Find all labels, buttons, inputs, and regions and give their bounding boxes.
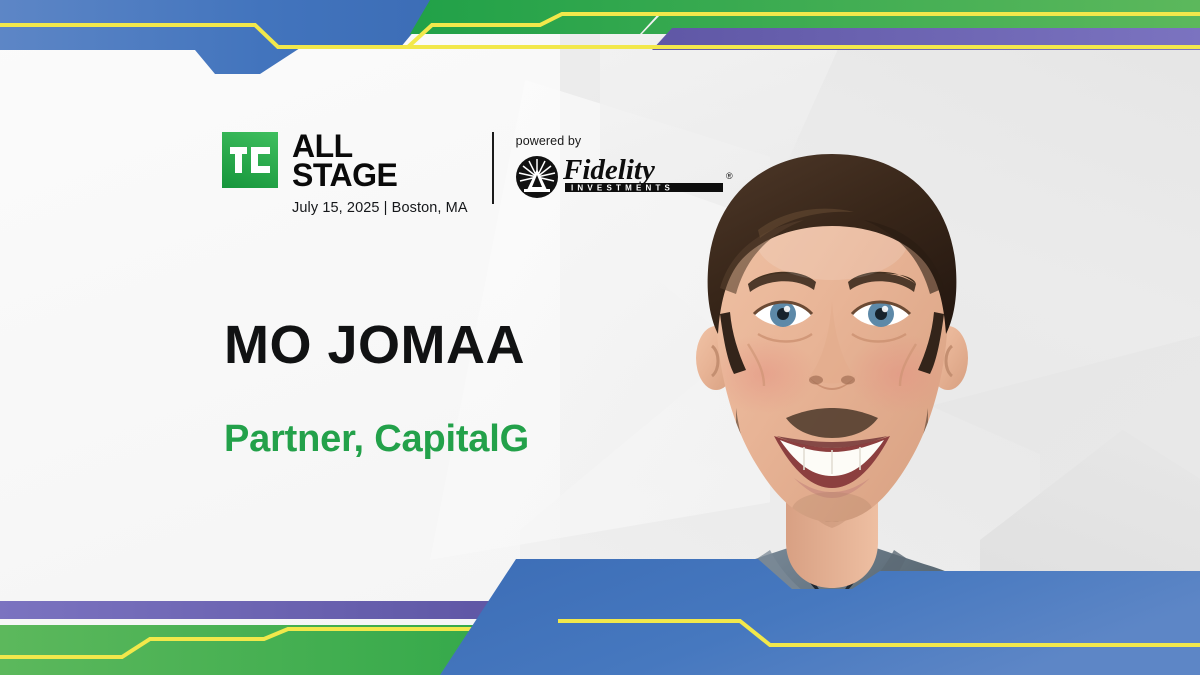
sponsor-block: powered by xyxy=(516,132,745,199)
event-date-location: July 15, 2025 | Boston, MA xyxy=(292,200,468,216)
fidelity-name-glyphs: Fidelity xyxy=(563,154,655,186)
techcrunch-logo: ALL STAGE July 15, 2025 | Boston, MA xyxy=(222,132,468,216)
techcrunch-tc-icon xyxy=(222,132,278,188)
all-stage-wordmark: ALL STAGE July 15, 2025 | Boston, MA xyxy=(292,132,468,216)
lockup-divider xyxy=(492,132,494,204)
fidelity-name-text: Fidelity ® INVESTMENTS xyxy=(563,154,745,194)
tc-monogram-icon xyxy=(230,147,270,173)
speaker-title: Partner, CapitalG xyxy=(224,418,529,461)
speaker-announcement-card: ALL STAGE July 15, 2025 | Boston, MA pow… xyxy=(0,0,1200,675)
wordmark-line-stage: STAGE xyxy=(292,161,468,190)
fidelity-logo: Fidelity ® INVESTMENTS xyxy=(516,154,745,199)
powered-by-label: powered by xyxy=(516,134,745,148)
fidelity-tagline: INVESTMENTS xyxy=(571,184,674,193)
fidelity-registered-mark: ® xyxy=(726,171,733,181)
fidelity-wordmark: Fidelity ® INVESTMENTS xyxy=(563,154,745,199)
speaker-name: MO JOMAA xyxy=(224,314,525,376)
fidelity-pyramid-starburst-icon xyxy=(516,156,558,198)
event-logo-lockup: ALL STAGE July 15, 2025 | Boston, MA pow… xyxy=(222,132,745,216)
speaker-photo-container xyxy=(600,0,1200,675)
